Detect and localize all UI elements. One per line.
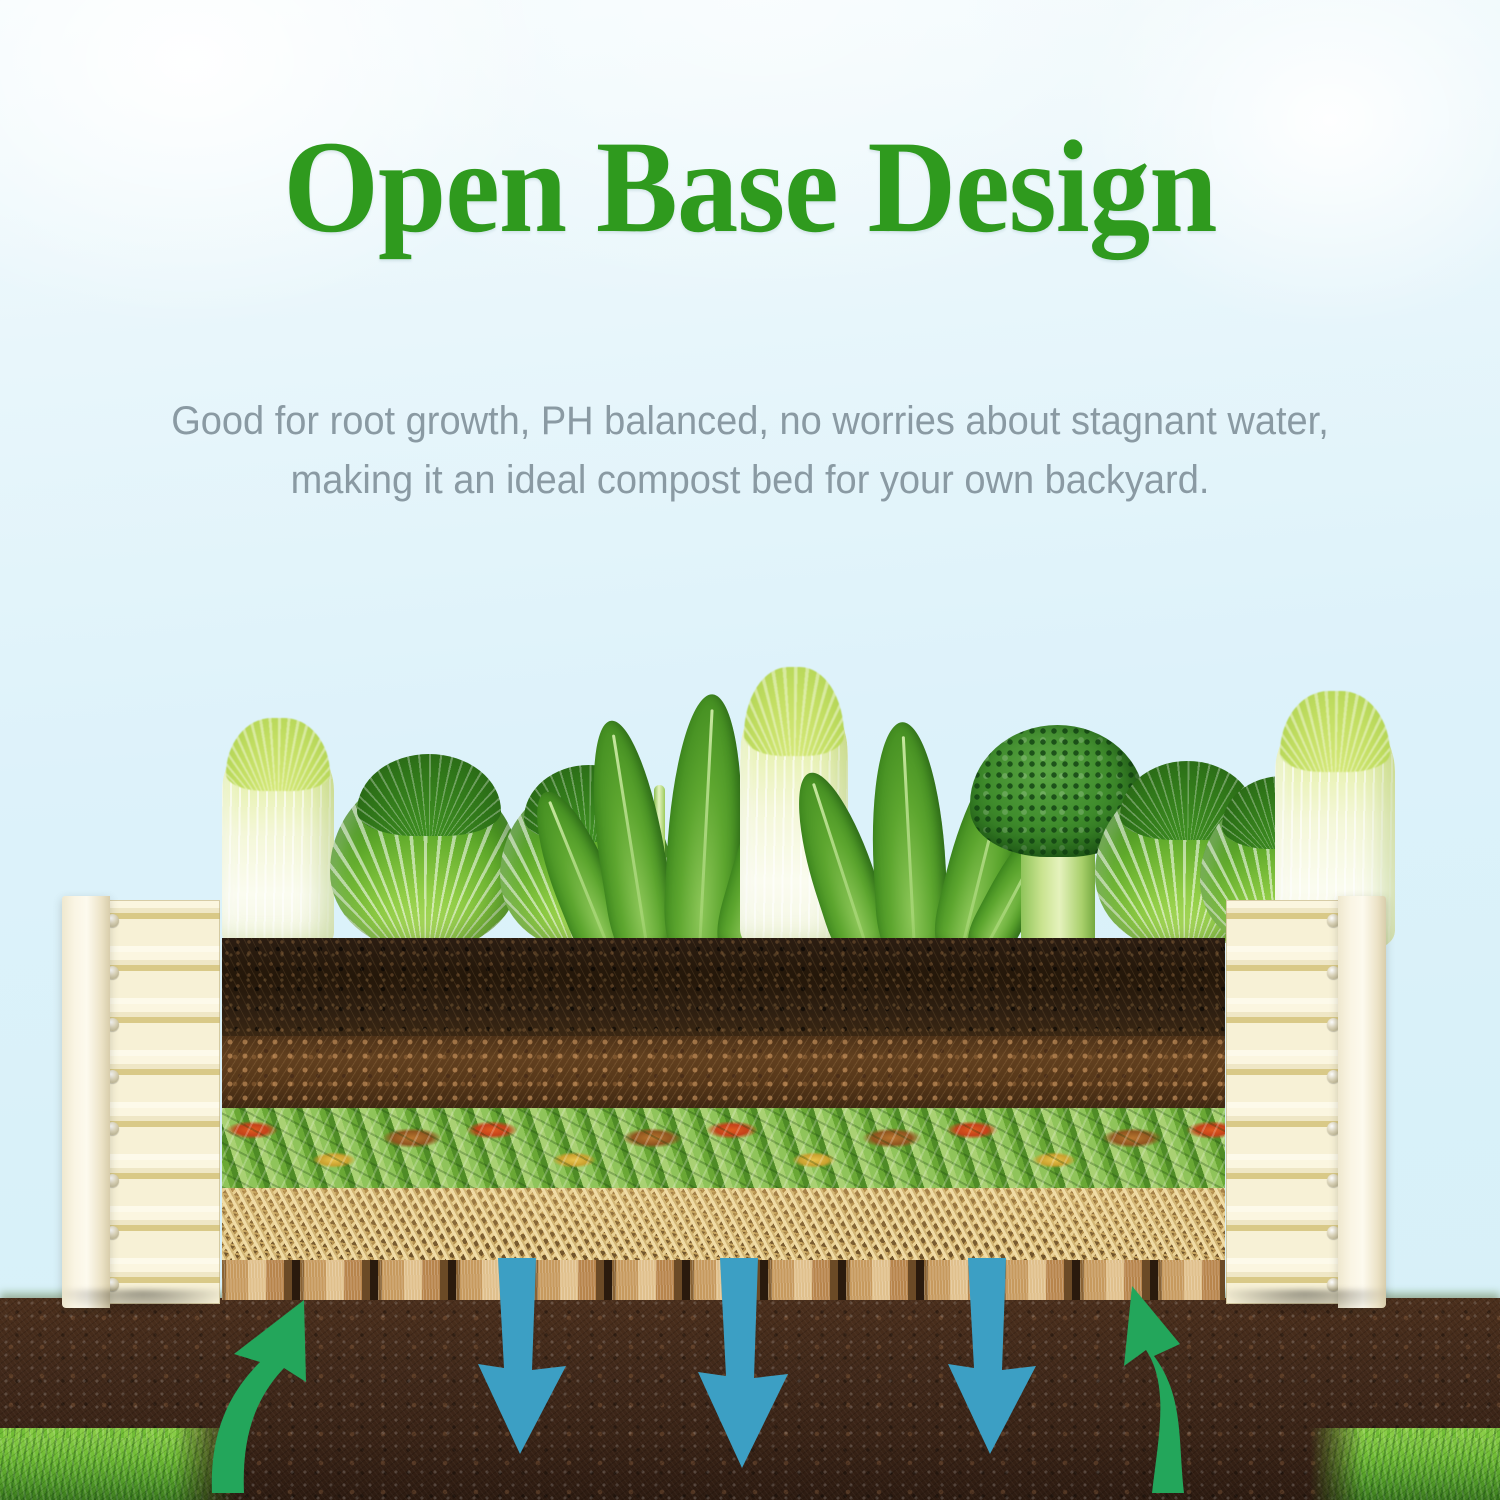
corner-post-left xyxy=(62,896,110,1308)
drainage-arrow-right xyxy=(940,1258,1050,1458)
post-shadow-right xyxy=(1218,1290,1392,1316)
layer-kitchen-scraps xyxy=(222,1108,1225,1188)
root-growth-arrow-left xyxy=(186,1290,336,1495)
drainage-arrow-center xyxy=(690,1258,800,1473)
corner-post-right xyxy=(1338,896,1386,1308)
bed-panel-right xyxy=(1226,900,1350,1304)
layer-straw xyxy=(222,1188,1225,1260)
soil-cross-section xyxy=(222,938,1225,1300)
product-feature-image: Open Base Design Good for root growth, P… xyxy=(0,0,1500,1500)
drainage-arrow-left xyxy=(470,1258,580,1458)
layer-topsoil xyxy=(222,938,1225,1036)
root-growth-arrow-right xyxy=(1090,1280,1240,1495)
bed-panel-left xyxy=(96,900,220,1304)
layer-compost xyxy=(222,1036,1225,1108)
